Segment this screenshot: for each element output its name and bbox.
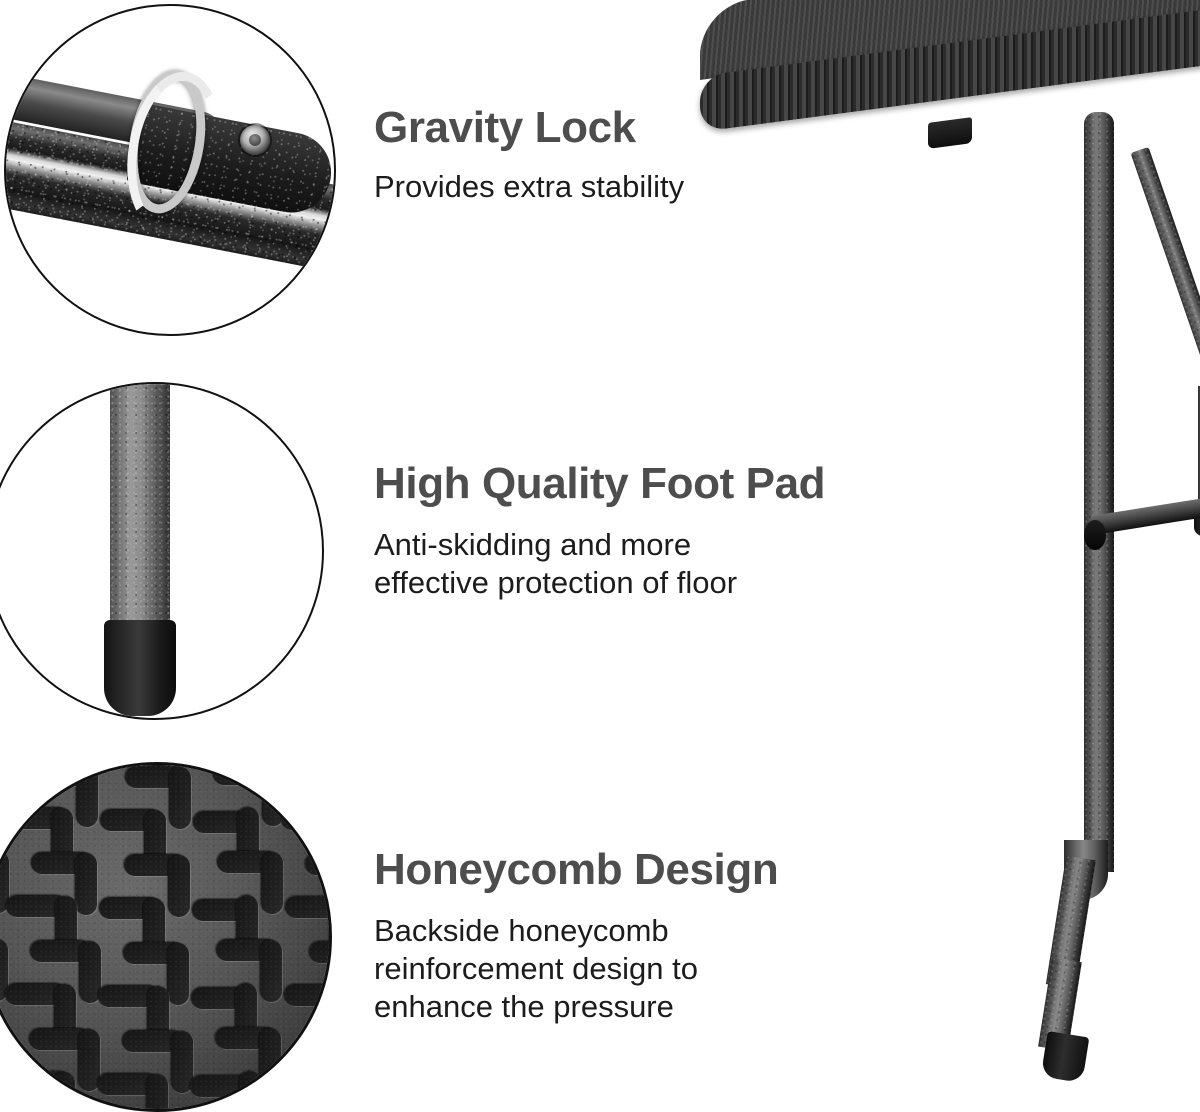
honeycomb-slot: [54, 984, 76, 1046]
honeycomb-slot: [235, 983, 257, 1045]
feature-block-honeycomb: Honeycomb Design Backside honeycomb rein…: [374, 848, 778, 1025]
feature-description-line: Backside honeycomb: [374, 912, 778, 950]
honeycomb-slot: [31, 852, 93, 874]
honeycomb-slot: [99, 897, 161, 919]
honeycomb-slot: [78, 1029, 100, 1091]
honeycomb-slot: [191, 987, 253, 1009]
honeycomb-slot: [168, 855, 190, 917]
honeycomb-slot: [53, 1072, 75, 1112]
honeycomb-slot: [213, 763, 275, 785]
honeycomb-slot: [147, 986, 169, 1048]
honeycomb-slot: [9, 1071, 71, 1093]
honeycomb-slot: [327, 1073, 332, 1112]
feature-description-line: Anti-skidding and more: [374, 526, 825, 564]
honeycomb-slot: [29, 1028, 91, 1050]
feature-description-line: reinforcement design to: [374, 950, 778, 988]
honeycomb-slot: [236, 895, 258, 957]
honeycomb-slot: [283, 1072, 332, 1094]
tabletop: [700, 0, 1200, 136]
honeycomb-slot: [51, 808, 73, 870]
honeycomb-slot: [328, 985, 332, 1047]
main-leg-tube: [1084, 112, 1114, 872]
honeycomb-slot: [259, 1028, 281, 1090]
honeycomb-slot: [100, 809, 162, 831]
honeycomb-slot: [76, 765, 98, 827]
honeycomb-slot: [0, 851, 9, 913]
cross-brace-joint: [1084, 520, 1106, 550]
honeycomb-slot: [262, 764, 284, 826]
honeycomb-slot: [284, 984, 332, 1006]
feature-block-foot-pad: High Quality Foot Pad Anti-skidding and …: [374, 462, 825, 602]
honeycomb-slot: [261, 852, 283, 914]
gravity-lock-photo-content: [6, 6, 334, 334]
honeycomb-slot: [7, 807, 69, 829]
honeycomb-slot: [329, 897, 332, 959]
honeycomb-slot: [0, 763, 5, 825]
honeycomb-slot: [144, 810, 166, 872]
honeycomb-slot: [237, 807, 259, 869]
feature-title-honeycomb: Honeycomb Design: [374, 848, 778, 892]
honeycomb-slot: [79, 941, 101, 1003]
honeycomb-slot: [124, 854, 186, 876]
honeycomb-slot: [167, 943, 189, 1005]
honeycomb-slot: [308, 1029, 332, 1051]
honeycomb-slot: [171, 1031, 193, 1093]
callout-gravity-lock-photo: [4, 4, 336, 336]
feature-description-honeycomb: Backside honeycomb reinforcement design …: [374, 912, 778, 1025]
honeycomb-slot: [47, 762, 69, 782]
honeycomb-slot: [0, 939, 8, 1001]
foot-pad-photo-content: [0, 384, 322, 718]
honeycomb-surface: [0, 765, 329, 1109]
honeycomb-slot: [305, 853, 332, 875]
honeycomb-slot: [123, 942, 185, 964]
feature-block-gravity-lock: Gravity Lock Provides extra stability: [374, 106, 684, 206]
main-leg-foot-cap: [1041, 1031, 1090, 1083]
honeycomb-slot: [5, 983, 67, 1005]
honeycomb-slot: [238, 762, 260, 781]
honeycomb-slot: [190, 1075, 252, 1097]
table-leg-tube: [110, 382, 170, 626]
honeycomb-slot: [306, 765, 332, 787]
honeycomb-slot: [281, 808, 332, 830]
feature-description-gravity-lock: Provides extra stability: [374, 168, 684, 206]
foot-pad-cap: [104, 620, 176, 716]
honeycomb-slot: [215, 1027, 277, 1049]
feature-description-line: effective protection of floor: [374, 564, 825, 602]
callout-honeycomb-photo: [0, 762, 332, 1112]
honeycomb-slot: [146, 1074, 168, 1112]
honeycomb-slot: [6, 895, 68, 917]
honeycomb-slot: [0, 1031, 3, 1053]
honeycomb-slot: [97, 1073, 159, 1095]
honeycomb-slot: [55, 896, 77, 958]
honeycomb-slot: [122, 1030, 184, 1052]
diagonal-brace-upper: [1131, 147, 1200, 408]
feature-description-foot-pad: Anti-skidding and more effective protect…: [374, 526, 825, 602]
feature-description-line: enhance the pressure: [374, 988, 778, 1026]
honeycomb-slot: [260, 940, 282, 1002]
honeycomb-slot: [169, 767, 191, 829]
honeycomb-slot: [193, 811, 255, 833]
feature-title-foot-pad: High Quality Foot Pad: [374, 462, 825, 506]
honeycomb-slot: [309, 941, 332, 963]
honeycomb-slot: [285, 896, 332, 918]
gravity-lock-ring: [119, 65, 215, 219]
callout-foot-pad-photo: [0, 382, 324, 720]
honeycomb-slot: [0, 1027, 7, 1089]
honeycomb-slot: [217, 851, 279, 873]
honeycomb-slot: [192, 899, 254, 921]
honeycomb-slot: [30, 940, 92, 962]
honeycomb-slot: [330, 809, 332, 871]
honeycomb-slot: [75, 853, 97, 915]
honeycomb-slot: [143, 898, 165, 960]
honeycomb-slot: [331, 762, 332, 783]
honeycomb-slot: [145, 762, 167, 784]
honeycomb-slot: [125, 766, 187, 788]
honeycomb-slot: [98, 985, 160, 1007]
honeycomb-slot: [32, 764, 94, 786]
feature-title-gravity-lock: Gravity Lock: [374, 106, 684, 150]
tabletop-mount-nub: [928, 117, 972, 149]
honeycomb-slot: [239, 1071, 261, 1112]
honeycomb-slot: [216, 939, 278, 961]
